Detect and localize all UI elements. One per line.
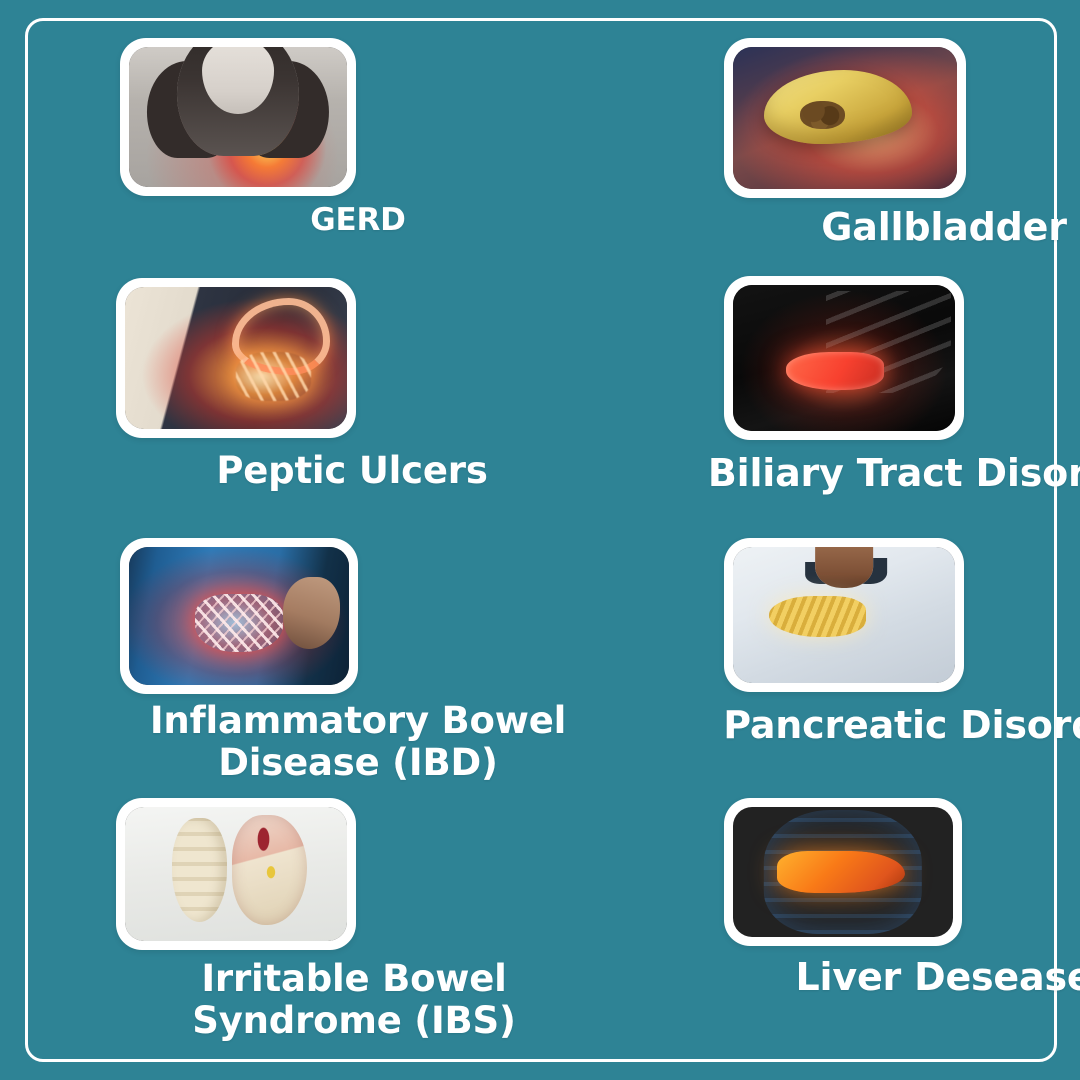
thumbnail-gerd [129,47,347,187]
doctor-examining-pancreas-illustration [733,547,955,683]
card-irritable-bowel-syndrome[interactable]: Irritable BowelSyndrome (IBS) [116,798,356,950]
right-column: Gallbladder Biliary Tract Disorders Panc… [540,0,1080,1080]
thumbnail-frame-gerd [120,38,356,196]
caption-peptic-ulcers: Peptic Ulcers [116,450,588,492]
thumbnail-gallbladder [733,47,957,189]
card-biliary-tract-disorders[interactable]: Biliary Tract Disorders [724,276,964,440]
thumbnail-liver-disease [733,807,953,937]
card-liver-disease[interactable]: Liver Desease [724,798,962,946]
caption-liver-disease: Liver Desease [644,956,1080,999]
xray-torso-biliary-tract-illustration [733,285,955,431]
card-gerd[interactable]: GERD [120,38,356,196]
card-pancreatic-disorders[interactable]: Pancreatic Disorders [724,538,964,692]
thumbnail-biliary-tract-disorders [733,285,955,431]
thumbnail-inflammatory-bowel-disease [129,547,349,685]
poster-canvas: GERD Peptic Ulcers Inflammatory BowelDis… [0,0,1080,1080]
thumbnail-frame-inflammatory-bowel-disease [120,538,358,694]
woman-holding-throat-heartburn-photo [129,47,347,187]
caption-gerd: GERD [120,203,596,238]
blue-shirt-torso-inflamed-intestines-photo [129,547,349,685]
left-column: GERD Peptic Ulcers Inflammatory BowelDis… [0,0,540,1080]
caption-gallbladder: Gallbladder [644,206,1080,249]
thumbnail-frame-liver-disease [724,798,962,946]
thumbnail-irritable-bowel-syndrome [125,807,347,941]
card-inflammatory-bowel-disease[interactable]: Inflammatory BowelDisease (IBD) [120,538,358,694]
thumbnail-frame-pancreatic-disorders [724,538,964,692]
caption-pancreatic-disorders: Pancreatic Disorders [644,704,1080,747]
thumbnail-frame-biliary-tract-disorders [724,276,964,440]
card-peptic-ulcers[interactable]: Peptic Ulcers [116,278,356,438]
thumbnail-peptic-ulcers [125,287,347,429]
gallbladder-with-gallstones-illustration [733,47,957,189]
thumbnail-frame-peptic-ulcers [116,278,356,438]
thumbnail-frame-gallbladder [724,38,966,198]
thumbnail-pancreatic-disorders [733,547,955,683]
hands-holding-colon-anatomical-model-photo [125,807,347,941]
xray-torso-glowing-liver-illustration [733,807,953,937]
person-holding-stomach-ulcer-photo [125,287,347,429]
card-gallbladder[interactable]: Gallbladder [724,38,966,198]
thumbnail-frame-irritable-bowel-syndrome [116,798,356,950]
caption-biliary-tract-disorders: Biliary Tract Disorders [628,452,1080,495]
